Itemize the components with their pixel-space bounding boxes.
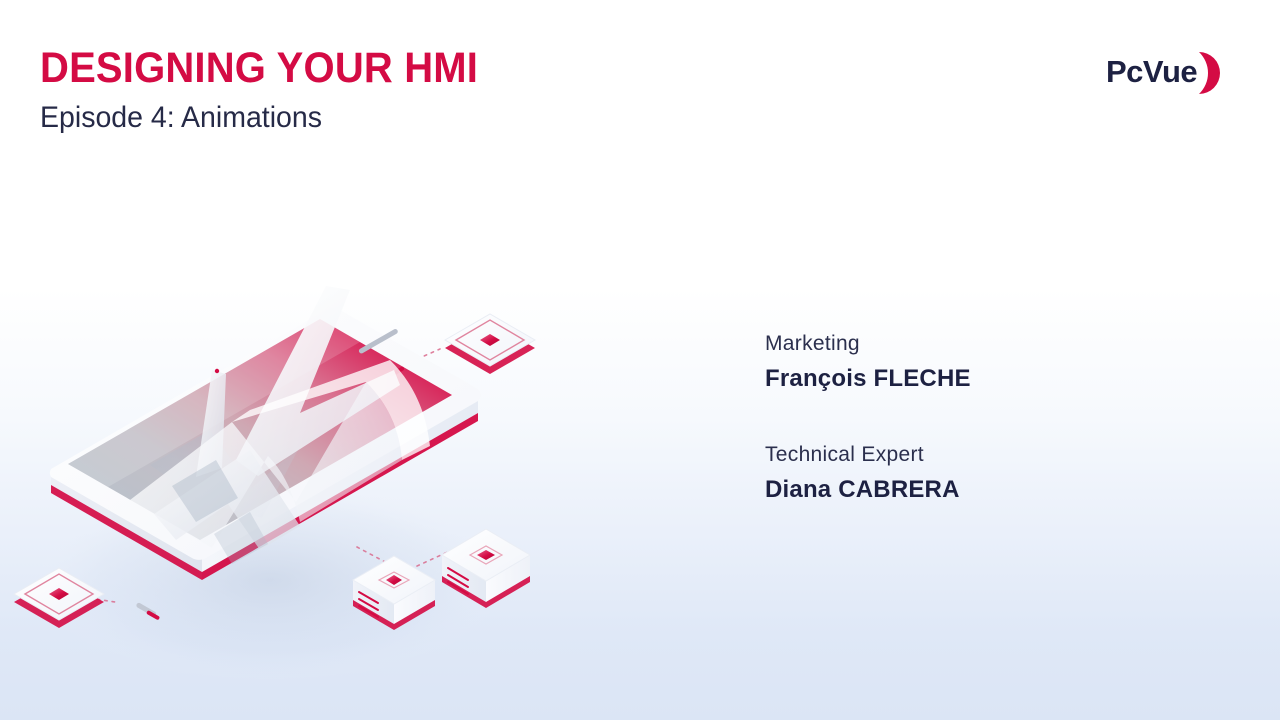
speaker-entry: Technical Expert Diana CABRERA bbox=[765, 441, 1185, 508]
title-block: DESIGNING YOUR HMI Episode 4: Animations bbox=[40, 46, 740, 134]
speaker-role: Technical Expert bbox=[765, 441, 1185, 469]
presentation-slide: DESIGNING YOUR HMI Episode 4: Animations… bbox=[0, 0, 1280, 720]
speaker-entry: Marketing François FLECHE bbox=[765, 330, 1185, 397]
speaker-name: François FLECHE bbox=[765, 362, 1185, 397]
speaker-role: Marketing bbox=[765, 330, 1185, 358]
arrow-crescent-icon bbox=[1199, 52, 1220, 94]
page-subtitle: Episode 4: Animations bbox=[40, 101, 705, 134]
pcvue-logo: PcVue bbox=[1106, 48, 1232, 98]
chart-spire-tip bbox=[215, 369, 219, 373]
isometric-tablet-illustration bbox=[0, 250, 640, 720]
pcvue-wordmark: PcVue bbox=[1106, 54, 1197, 89]
speakers-block: Marketing François FLECHE Technical Expe… bbox=[765, 330, 1185, 508]
speaker-name: Diana CABRERA bbox=[765, 473, 1185, 508]
illustration bbox=[0, 250, 640, 720]
pcvue-logo-svg: PcVue bbox=[1106, 48, 1232, 98]
node-top-right bbox=[445, 314, 535, 374]
page-title: DESIGNING YOUR HMI bbox=[40, 46, 691, 91]
